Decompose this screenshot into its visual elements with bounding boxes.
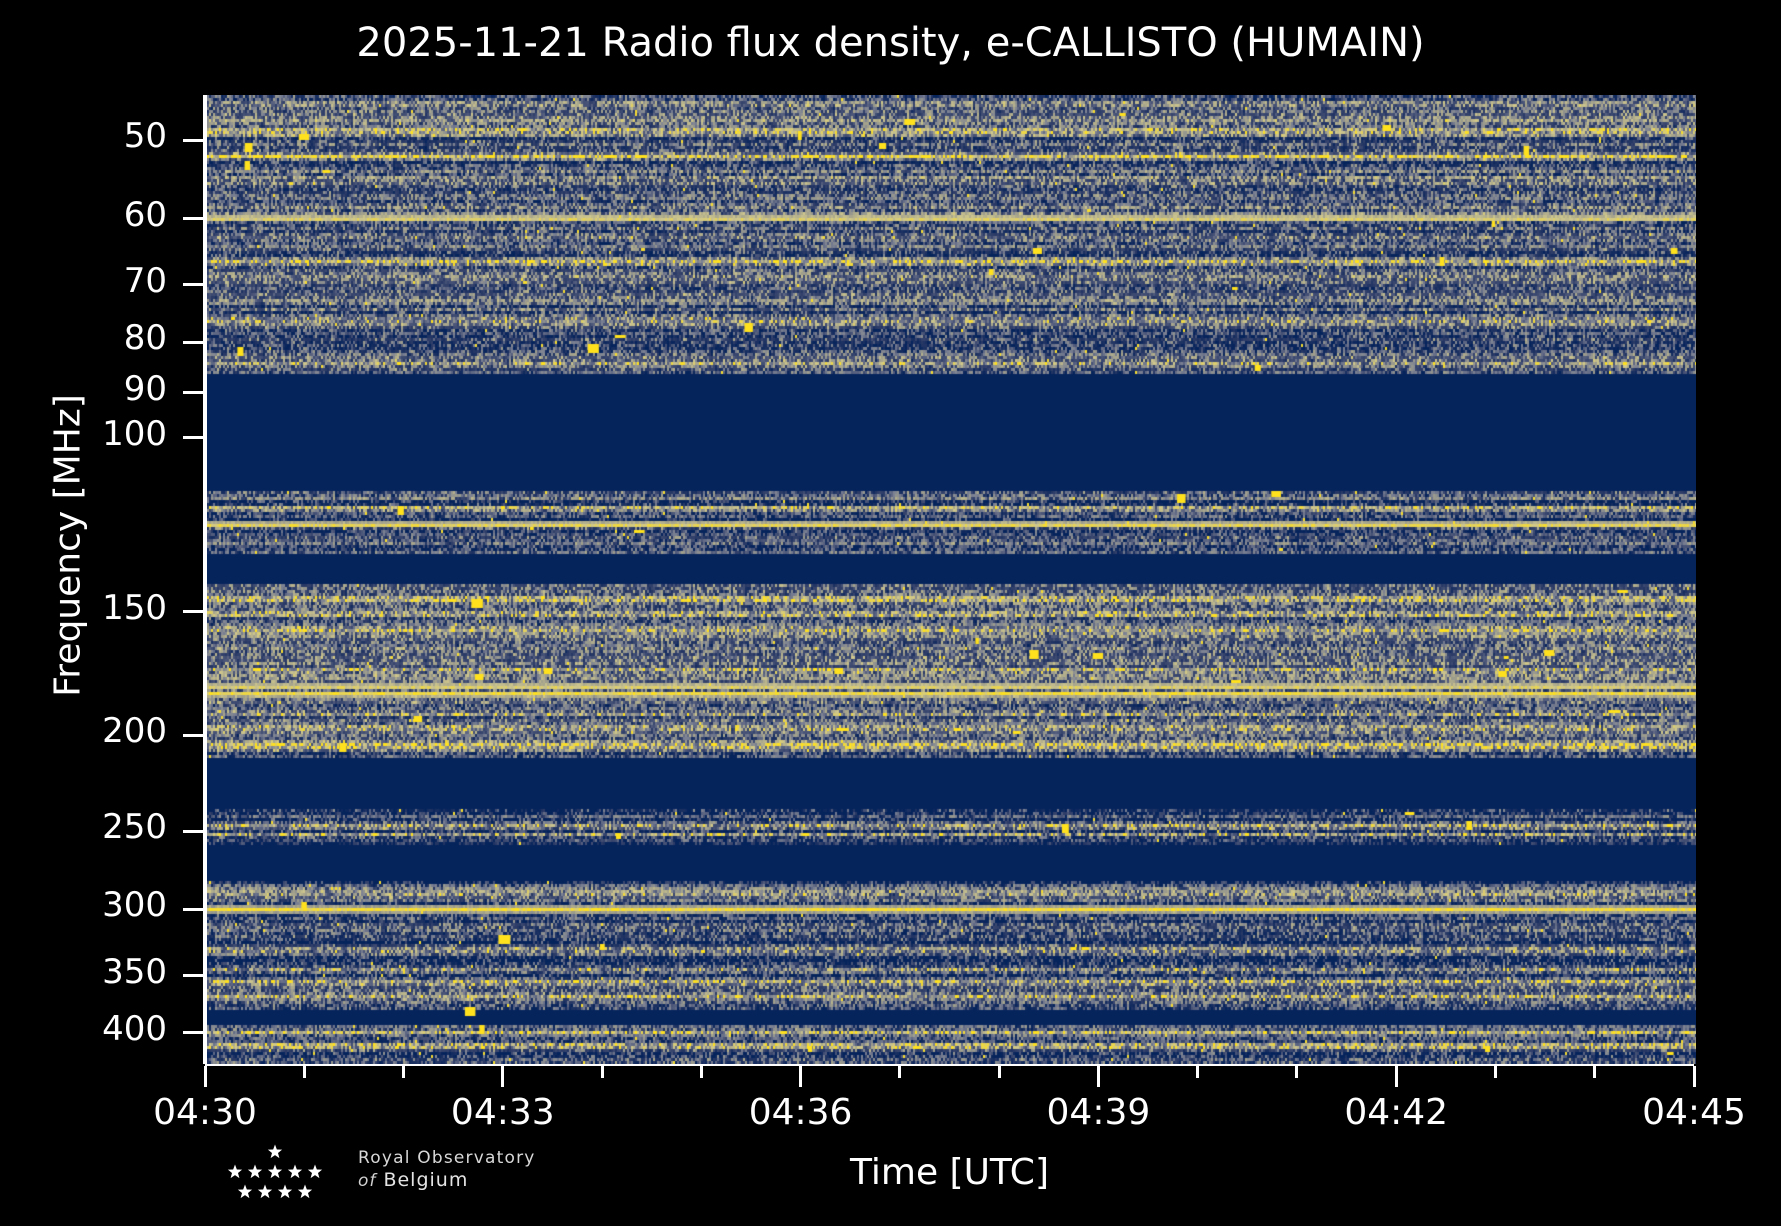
y-tick-mark xyxy=(183,436,204,439)
y-tick-mark xyxy=(183,908,204,911)
y-tick-label: 400 xyxy=(0,1009,175,1049)
x-tick-mark-minor xyxy=(898,1066,901,1078)
x-tick-mark-minor xyxy=(1295,1066,1298,1078)
x-tick-mark-major xyxy=(501,1066,504,1087)
y-tick-mark xyxy=(183,830,204,833)
logo-text: Royal Observatory of Belgium xyxy=(358,1148,536,1193)
spectrogram-figure: 2025-11-21 Radio flux density, e-CALLIST… xyxy=(0,0,1781,1226)
y-tick-label: 60 xyxy=(0,195,175,235)
y-axis-label: Frequency [MHz] xyxy=(48,246,89,846)
y-tick-mark xyxy=(183,217,204,220)
x-tick-label: 04:39 xyxy=(988,1092,1208,1133)
y-tick-mark xyxy=(183,391,204,394)
y-tick-mark xyxy=(183,734,204,737)
page-title: 2025-11-21 Radio flux density, e-CALLIST… xyxy=(0,20,1781,66)
x-tick-mark-minor xyxy=(1593,1066,1596,1078)
x-tick-label: 04:36 xyxy=(691,1092,911,1133)
x-tick-mark-major xyxy=(1693,1066,1696,1087)
x-tick-mark-major xyxy=(799,1066,802,1087)
logo-of-word: of xyxy=(358,1171,376,1191)
y-tick-label: 350 xyxy=(0,952,175,992)
y-tick-mark xyxy=(183,1031,204,1034)
x-tick-label: 04:42 xyxy=(1286,1092,1506,1133)
spectrogram-plot[interactable] xyxy=(205,95,1696,1064)
x-tick-label: 04:45 xyxy=(1584,1092,1781,1133)
x-tick-mark-major xyxy=(1395,1066,1398,1087)
royal-observatory-logo: Royal Observatory of Belgium xyxy=(200,1138,500,1214)
y-axis-spine xyxy=(203,95,205,1064)
y-tick-mark xyxy=(183,610,204,613)
y-tick-mark xyxy=(183,283,204,286)
eu-stars-icon xyxy=(200,1138,350,1208)
y-tick-mark xyxy=(183,341,204,344)
x-tick-mark-minor xyxy=(601,1066,604,1078)
x-tick-label: 04:30 xyxy=(95,1092,315,1133)
x-tick-mark-minor xyxy=(1494,1066,1497,1078)
x-tick-mark-minor xyxy=(303,1066,306,1078)
logo-line-1: Royal Observatory xyxy=(358,1148,536,1169)
y-tick-mark xyxy=(183,974,204,977)
x-axis-spine xyxy=(205,1064,1694,1066)
y-tick-label: 300 xyxy=(0,885,175,925)
x-tick-label: 04:33 xyxy=(393,1092,613,1133)
x-tick-mark-minor xyxy=(998,1066,1001,1078)
logo-line-2: of Belgium xyxy=(358,1169,536,1193)
spectrogram-image xyxy=(207,95,1696,1064)
x-tick-mark-minor xyxy=(1196,1066,1199,1078)
x-tick-mark-major xyxy=(1097,1066,1100,1087)
x-tick-mark-major xyxy=(204,1066,207,1087)
y-tick-label: 50 xyxy=(0,116,175,156)
x-tick-mark-minor xyxy=(402,1066,405,1078)
x-tick-mark-minor xyxy=(700,1066,703,1078)
y-tick-mark xyxy=(183,139,204,142)
logo-belgium-word: Belgium xyxy=(383,1169,468,1191)
